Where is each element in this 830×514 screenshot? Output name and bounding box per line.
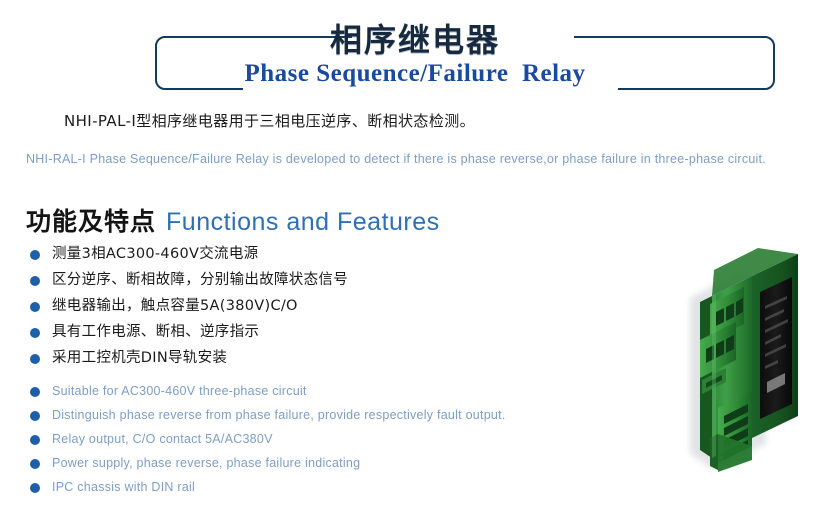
- list-item-label: 具有工作电源、断相、逆序指示: [52, 322, 259, 344]
- list-item-label: 测量3相AC300-460V交流电源: [52, 244, 258, 266]
- module-edge-highlight: [712, 294, 716, 458]
- feature-list-chinese: 测量3相AC300-460V交流电源 区分逆序、断相故障，分别输出故障状态信号 …: [30, 244, 348, 374]
- list-item-label: 区分逆序、断相故障，分别输出故障状态信号: [52, 270, 348, 292]
- bullet-dot-icon: [30, 354, 40, 364]
- list-item-label: Power supply, phase reverse, phase failu…: [52, 454, 360, 473]
- description-chinese: NHI-PAL-Ⅰ型相序继电器用于三相电压逆序、断相状态检测。: [64, 110, 475, 131]
- bullet-dot-icon: [30, 387, 40, 397]
- list-item-label: IPC chassis with DIN rail: [52, 478, 195, 497]
- section-heading-chinese: 功能及特点: [26, 202, 156, 238]
- bullet-dot-icon: [30, 302, 40, 312]
- bullet-dot-icon: [30, 435, 40, 445]
- section-heading-english: Functions and Features: [166, 208, 440, 237]
- functions-section-heading: 功能及特点 Functions and Features: [26, 202, 440, 238]
- page-title-english: Phase Sequence/Failure Relay: [0, 60, 830, 88]
- list-item: 继电器输出，触点容量5A(380V)C/O: [30, 296, 348, 322]
- list-item-label: 继电器输出，触点容量5A(380V)C/O: [52, 296, 298, 318]
- bullet-dot-icon: [30, 250, 40, 260]
- list-item: 具有工作电源、断相、逆序指示: [30, 322, 348, 348]
- list-item-label: Relay output, C/O contact 5A/AC380V: [52, 430, 273, 449]
- list-item: Relay output, C/O contact 5A/AC380V: [30, 430, 506, 454]
- module-label-panel: [760, 277, 792, 419]
- list-item: IPC chassis with DIN rail: [30, 478, 506, 502]
- list-item: 区分逆序、断相故障，分别输出故障状态信号: [30, 270, 348, 296]
- bullet-dot-icon: [30, 459, 40, 469]
- list-item: Suitable for AC300-460V three-phase circ…: [30, 382, 506, 406]
- list-item-label: 采用工控机壳DIN导轨安装: [52, 348, 227, 370]
- product-photo: [648, 232, 828, 482]
- datasheet-page: 相序继电器 Phase Sequence/Failure Relay NHI-P…: [0, 0, 830, 514]
- description-english: NHI-RAL-I Phase Sequence/Failure Relay i…: [26, 148, 816, 172]
- list-item: 测量3相AC300-460V交流电源: [30, 244, 348, 270]
- page-header: 相序继电器 Phase Sequence/Failure Relay: [0, 0, 830, 104]
- list-item: Power supply, phase reverse, phase failu…: [30, 454, 506, 478]
- list-item-label: Distinguish phase reverse from phase fai…: [52, 406, 506, 425]
- list-item: 采用工控机壳DIN导轨安装: [30, 348, 348, 374]
- bullet-dot-icon: [30, 328, 40, 338]
- list-item: Distinguish phase reverse from phase fai…: [30, 406, 506, 430]
- list-item-label: Suitable for AC300-460V three-phase circ…: [52, 382, 307, 401]
- bullet-dot-icon: [30, 411, 40, 421]
- din-rail-relay-module-illustration: [648, 232, 828, 482]
- feature-list-english: Suitable for AC300-460V three-phase circ…: [30, 382, 506, 502]
- page-title-chinese: 相序继电器: [0, 24, 830, 56]
- bullet-dot-icon: [30, 276, 40, 286]
- bullet-dot-icon: [30, 483, 40, 493]
